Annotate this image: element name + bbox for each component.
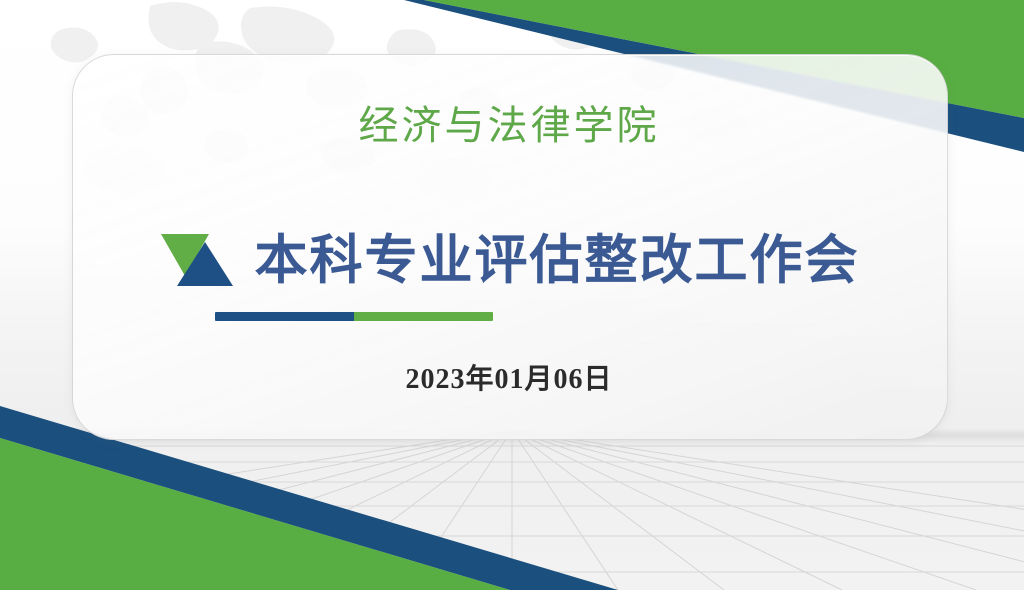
title-slide: 经济与法律学院 本科专业评估整改工作会 2023年01月06日	[0, 0, 1024, 590]
department-name: 经济与法律学院	[72, 106, 946, 146]
double-triangle-logo-icon	[159, 232, 237, 288]
perspective-grid-floor	[0, 430, 1024, 590]
rule-segment-blue	[215, 312, 354, 321]
rule-segment-green	[354, 312, 493, 321]
title-content: 经济与法律学院 本科专业评估整改工作会 2023年01月06日	[72, 54, 946, 438]
title-row: 本科专业评估整改工作会	[72, 232, 946, 288]
slide-date: 2023年01月06日	[72, 366, 946, 394]
title-underline-rule	[215, 312, 493, 321]
page-title: 本科专业评估整改工作会	[255, 234, 860, 287]
